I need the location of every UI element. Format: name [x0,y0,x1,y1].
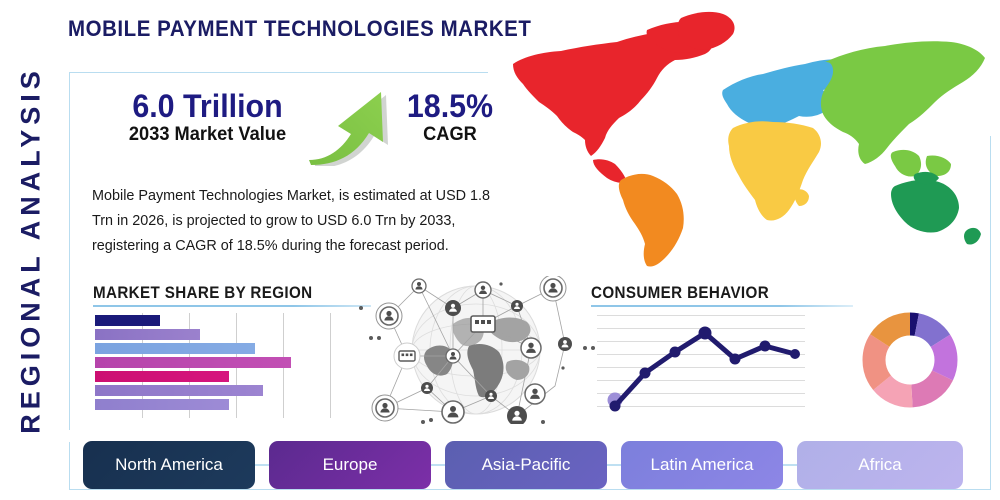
market-value-number: 6.0 Trillion [105,90,309,124]
market-share-rule [93,305,371,307]
consumer-behavior-heading: CONSUMER BEHAVIOR [591,284,769,303]
region-button-africa[interactable]: Africa [797,441,963,489]
bar-segment [95,371,229,382]
region-button-latin-america[interactable]: Latin America [621,441,783,489]
consumer-behavior-rule [591,305,853,307]
bar-segment [95,385,263,396]
page-title: MOBILE PAYMENT TECHNOLOGIES MARKET [68,16,531,42]
region-connector [607,464,621,466]
bar-segment [95,399,229,410]
market-value-stat: 6.0 Trillion 2033 Market Value [100,90,315,145]
side-label-text: REGIONAL ANALYSIS [16,66,47,434]
region-nav-bar: North America Europe Asia-Pacific Latin … [83,441,963,489]
bar-segment [95,357,291,368]
globe-network-icon [357,276,595,424]
market-value-label: 2033 Market Value [104,124,310,146]
segment-donut-chart [858,308,962,412]
region-button-north-america[interactable]: North America [83,441,255,489]
bar-segment [95,315,160,326]
market-summary-text: Mobile Payment Technologies Market, is e… [92,184,502,259]
world-map-icon [495,6,995,271]
region-button-label: North America [115,455,223,475]
consumer-behavior-line-chart [597,311,805,419]
region-connector [255,464,269,466]
market-share-bar-chart [95,313,335,418]
bar-segment [95,329,200,340]
region-connector [431,464,445,466]
cagr-number: 18.5% [388,90,512,124]
bar-gridline [330,313,331,418]
region-connector [783,464,797,466]
region-button-label: Asia-Pacific [482,455,571,475]
key-stats-row: 6.0 Trillion 2033 Market Value 18.5% CAG… [90,90,510,170]
region-button-label: Europe [323,455,378,475]
bar-chart-plot [95,313,335,418]
region-button-label: Africa [858,455,901,475]
market-share-heading: MARKET SHARE BY REGION [93,284,313,303]
bar-segment [95,343,255,354]
cagr-label: CAGR [388,124,513,146]
region-button-europe[interactable]: Europe [269,441,431,489]
region-button-asia-pacific[interactable]: Asia-Pacific [445,441,607,489]
infographic-root: REGIONAL ANALYSIS MOBILE PAYMENT TECHNOL… [0,0,1000,500]
regional-analysis-side-label: REGIONAL ANALYSIS [0,0,62,500]
region-button-label: Latin America [651,455,754,475]
